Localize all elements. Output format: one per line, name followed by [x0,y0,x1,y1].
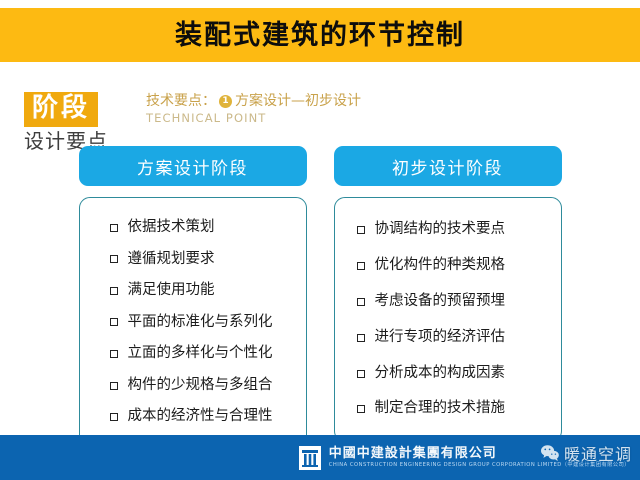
list-item-label: 协调结构的技术要点 [375,214,506,246]
technical-point-english: TECHNICAL POINT [146,112,566,126]
column-header-scheme-design: 方案设计阶段 [79,146,307,186]
list-item: 构件的少规格与多组合 [86,370,300,402]
square-bullet-icon [357,262,365,270]
list-item-label: 构件的少规格与多组合 [128,372,273,400]
list-item-label: 进行专项的经济评估 [375,322,506,354]
list-item: 立面的多样化与个性化 [86,338,300,370]
list-item-label: 优化构件的种类规格 [375,250,506,282]
list-item: 优化构件的种类规格 [341,248,555,284]
column-card-preliminary-design: 协调结构的技术要点 优化构件的种类规格 考虑设备的预留预埋 进行专项的经济评估 … [334,197,562,442]
square-bullet-icon [357,405,365,413]
list-item-label: 考虑设备的预留预埋 [375,286,506,318]
footer-bar: 中國中建設計集團有限公司 CHINA CONSTRUCTION ENGINEER… [0,435,640,480]
stage-columns: 方案设计阶段 依据技术策划 遵循规划要求 满足使用功能 平面的标准化与系列化 [0,146,640,448]
column-header-preliminary-design: 初步设计阶段 [334,146,562,186]
square-bullet-icon [110,224,118,232]
square-bullet-icon [110,382,118,390]
square-bullet-icon [110,255,118,263]
list-item-label: 制定合理的技术措施 [375,393,506,425]
bullet-list-scheme-design: 依据技术策划 遵循规划要求 满足使用功能 平面的标准化与系列化 立面的多样化与个… [86,212,300,433]
stage-badge: 阶段 [24,92,98,127]
watermark-label: 暖通空调 [564,441,632,465]
list-item-label: 遵循规划要求 [128,246,215,274]
list-item-label: 平面的标准化与系列化 [128,309,273,337]
stage-label-block: 阶段 设计要点 [24,92,144,153]
page-title: 装配式建筑的环节控制 [175,22,465,49]
column-card-scheme-design: 依据技术策划 遵循规划要求 满足使用功能 平面的标准化与系列化 立面的多样化与个… [79,197,307,448]
stage-column-preliminary-design: 初步设计阶段 协调结构的技术要点 优化构件的种类规格 考虑设备的预留预埋 进行专… [334,146,562,448]
stage-column-scheme-design: 方案设计阶段 依据技术策划 遵循规划要求 满足使用功能 平面的标准化与系列化 [79,146,307,448]
page-title-bar: 装配式建筑的环节控制 [0,8,640,62]
list-item: 制定合理的技术措施 [341,391,555,427]
list-item: 依据技术策划 [86,212,300,244]
list-item-label: 成本的经济性与合理性 [128,403,273,431]
numbered-badge-icon: 1 [219,95,232,108]
square-bullet-icon [357,226,365,234]
square-bullet-icon [357,298,365,306]
technical-point-line: 技术要点： 1 方案设计—初步设计 [146,93,566,111]
square-bullet-icon [110,318,118,326]
square-bullet-icon [110,350,118,358]
bullet-list-preliminary-design: 协调结构的技术要点 优化构件的种类规格 考虑设备的预留预埋 进行专项的经济评估 … [341,212,555,427]
list-item-label: 满足使用功能 [128,277,215,305]
square-bullet-icon [357,370,365,378]
list-item-label: 分析成本的构成因素 [375,358,506,390]
list-item: 协调结构的技术要点 [341,212,555,248]
technical-point-topic: 方案设计—初步设计 [235,93,361,111]
technical-point-prefix: 技术要点： [146,93,216,111]
list-item: 满足使用功能 [86,275,300,307]
square-bullet-icon [357,334,365,342]
wechat-icon [540,444,560,462]
square-bullet-icon [110,287,118,295]
list-item-label: 立面的多样化与个性化 [128,340,273,368]
list-item: 考虑设备的预留预埋 [341,284,555,320]
list-item: 遵循规划要求 [86,244,300,276]
list-item: 进行专项的经济评估 [341,320,555,356]
list-item: 分析成本的构成因素 [341,356,555,392]
square-bullet-icon [110,413,118,421]
list-item-label: 依据技术策划 [128,214,215,242]
list-item: 成本的经济性与合理性 [86,401,300,433]
wechat-watermark: 暖通空调 [540,441,632,465]
company-logo-icon [299,446,321,470]
technical-point-block: 技术要点： 1 方案设计—初步设计 TECHNICAL POINT [146,93,566,125]
list-item: 平面的标准化与系列化 [86,307,300,339]
